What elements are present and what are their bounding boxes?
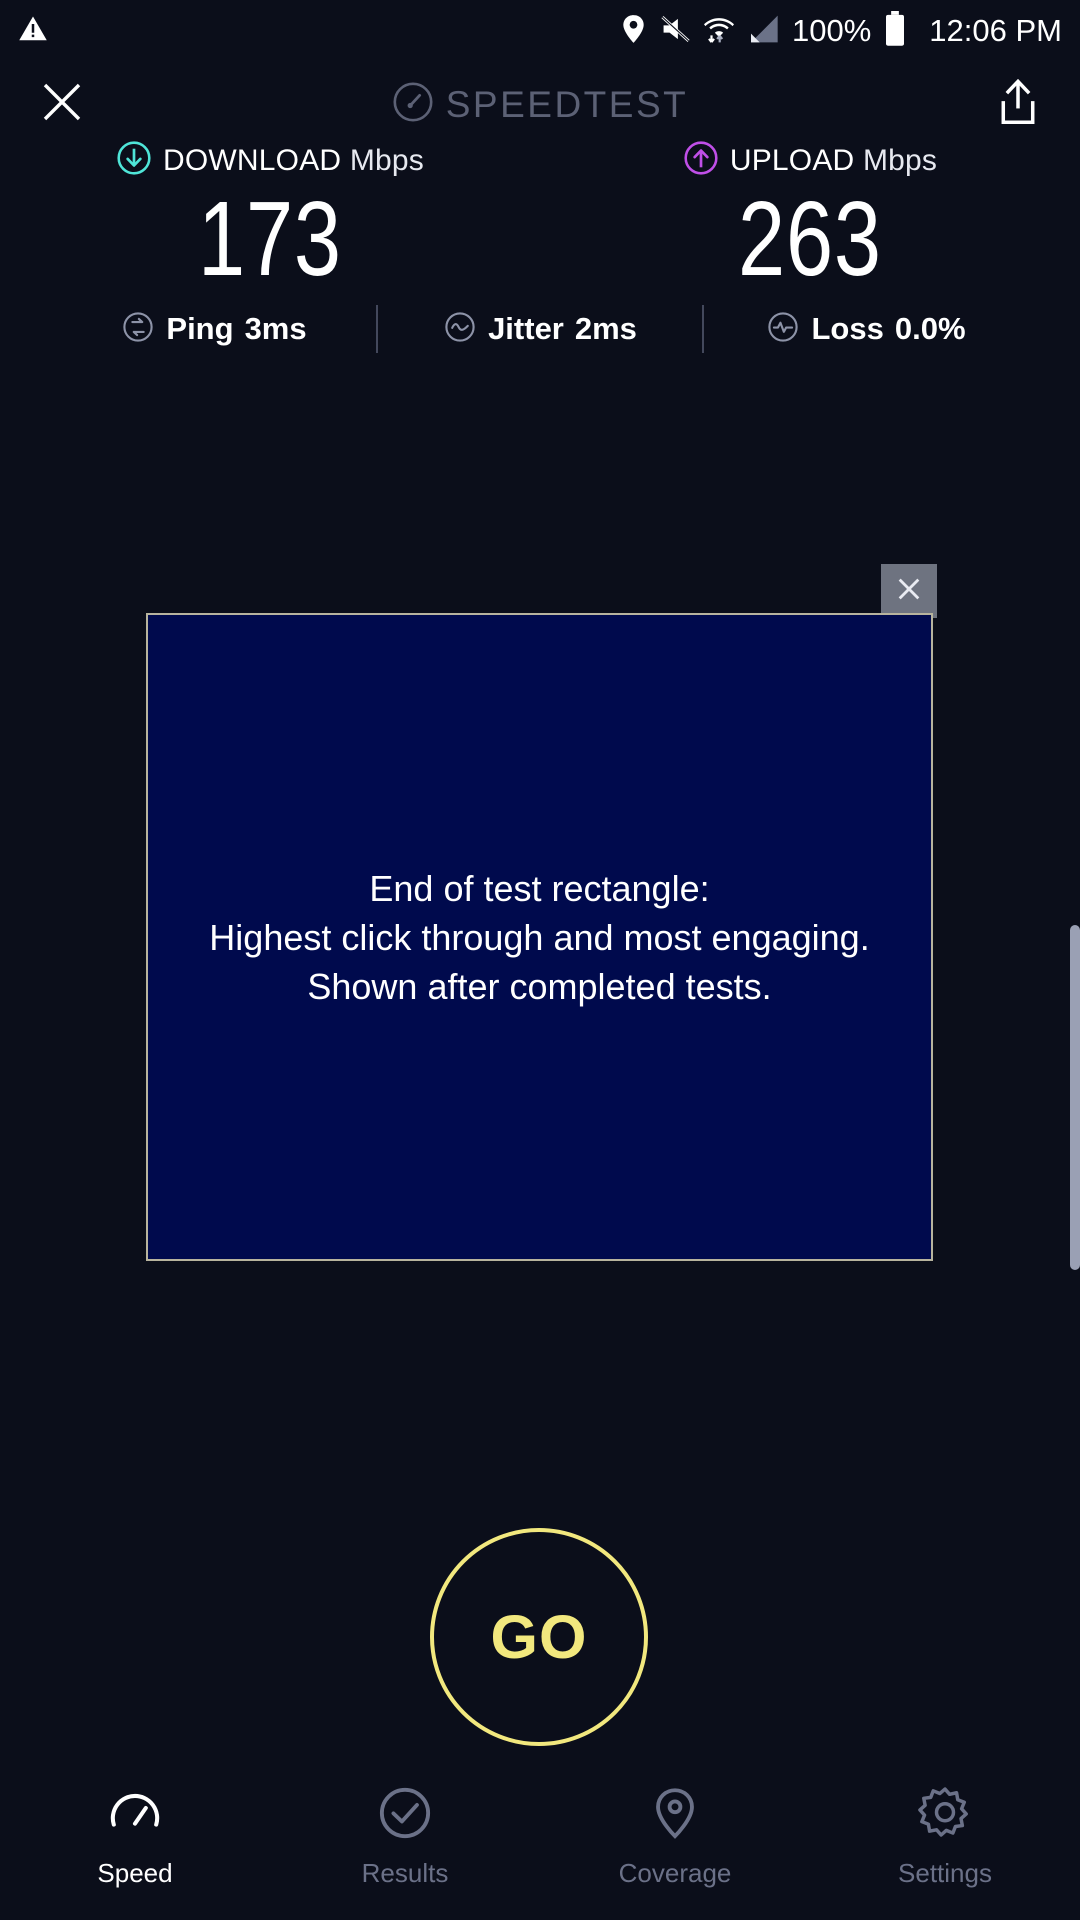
speedometer-icon xyxy=(108,1786,162,1845)
page-title: SPEEDTEST xyxy=(446,84,689,126)
nav-item-speed[interactable]: Speed xyxy=(0,1786,270,1889)
go-button[interactable]: GO xyxy=(430,1528,648,1746)
battery-full-icon xyxy=(884,11,906,52)
close-x-icon xyxy=(38,78,86,131)
nav-label-settings: Settings xyxy=(898,1858,992,1889)
download-upload-row: DOWNLOAD Mbps 173 UPLOAD Mbps 263 xyxy=(0,140,1080,291)
ping-icon xyxy=(121,310,155,349)
nav-label-speed: Speed xyxy=(97,1858,172,1889)
speedtest-gauge-icon xyxy=(392,81,434,128)
jitter-label: Jitter xyxy=(488,311,564,347)
check-circle-icon xyxy=(378,1786,432,1845)
download-arrow-icon xyxy=(116,140,152,181)
ad-line-3: Shown after completed tests. xyxy=(209,962,869,1011)
status-bar: 100% 12:06 PM xyxy=(0,0,1080,62)
advertisement-banner[interactable]: End of test rectangle: Highest click thr… xyxy=(146,613,933,1261)
download-value: 173 xyxy=(198,187,342,291)
bell-muted-icon xyxy=(660,14,691,49)
upload-arrow-icon xyxy=(683,140,719,181)
ad-line-2: Highest click through and most engaging. xyxy=(209,913,869,962)
jitter-icon xyxy=(443,310,477,349)
download-label: DOWNLOAD Mbps xyxy=(163,144,424,178)
nav-item-coverage[interactable]: Coverage xyxy=(540,1786,810,1889)
ping-label: Ping xyxy=(166,311,233,347)
go-button-label: GO xyxy=(491,1602,588,1672)
speedtest-app-screen: 100% 12:06 PM xyxy=(0,0,1080,1920)
jitter-metric: Jitter 2ms xyxy=(378,310,702,349)
location-pin-icon xyxy=(620,14,647,49)
loss-label: Loss xyxy=(811,311,883,347)
download-label-row: DOWNLOAD Mbps xyxy=(116,140,424,181)
upload-label: UPLOAD Mbps xyxy=(730,144,937,178)
ping-jitter-loss-row: Ping 3ms Jitter 2ms xyxy=(0,305,1080,353)
map-pin-icon xyxy=(648,1786,702,1845)
download-metric: DOWNLOAD Mbps 173 xyxy=(0,140,540,291)
nav-item-results[interactable]: Results xyxy=(270,1786,540,1889)
ad-close-button[interactable] xyxy=(881,564,937,618)
nav-item-settings[interactable]: Settings xyxy=(810,1786,1080,1889)
status-bar-left xyxy=(18,14,48,49)
warning-triangle-icon xyxy=(18,14,48,49)
scrollbar-thumb[interactable] xyxy=(1070,925,1080,1270)
nav-label-results: Results xyxy=(362,1858,449,1889)
loss-metric: Loss 0.0% xyxy=(704,310,1028,349)
status-bar-right: 100% 12:06 PM xyxy=(620,11,1062,52)
upload-value: 263 xyxy=(738,187,882,291)
ad-close-x-icon xyxy=(893,573,925,610)
wifi-icon xyxy=(704,13,734,49)
gear-icon xyxy=(918,1786,972,1845)
ping-metric: Ping 3ms xyxy=(52,310,376,349)
share-icon xyxy=(997,79,1039,130)
jitter-value: 2ms xyxy=(575,311,637,347)
nav-label-coverage: Coverage xyxy=(619,1858,732,1889)
loss-icon xyxy=(766,310,800,349)
share-button[interactable] xyxy=(992,79,1044,131)
results-panel: DOWNLOAD Mbps 173 UPLOAD Mbps 263 xyxy=(0,140,1080,353)
bottom-navigation: Speed Results Coverage xyxy=(0,1772,1080,1920)
upload-label-row: UPLOAD Mbps xyxy=(683,140,937,181)
ping-value: 3ms xyxy=(245,311,307,347)
ad-text-block: End of test rectangle: Highest click thr… xyxy=(199,864,879,1011)
battery-percent-label: 100% xyxy=(792,13,871,49)
app-header: SPEEDTEST xyxy=(0,62,1080,147)
ad-line-1: End of test rectangle: xyxy=(209,864,869,913)
upload-metric: UPLOAD Mbps 263 xyxy=(540,140,1080,291)
app-title-group: SPEEDTEST xyxy=(88,81,992,128)
loss-value: 0.0% xyxy=(895,311,966,347)
close-button[interactable] xyxy=(36,79,88,131)
status-bar-clock: 12:06 PM xyxy=(929,13,1062,49)
cellular-signal-icon xyxy=(747,14,779,49)
